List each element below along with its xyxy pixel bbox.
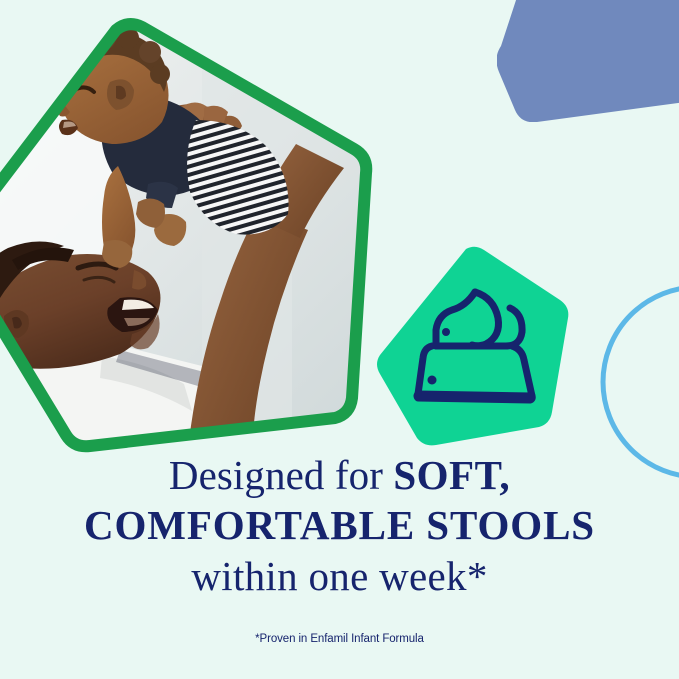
- light-blue-circle-icon: [598, 282, 679, 482]
- headline-emphasis-soft: SOFT,: [393, 452, 510, 498]
- rounded-blue-polygon-icon: [497, 0, 679, 122]
- headline-line-1: Designed for SOFT,: [0, 455, 679, 496]
- promo-banner: Designed for SOFT, COMFORTABLE STOOLS wi…: [0, 0, 679, 679]
- soft-stool-badge: [374, 246, 576, 448]
- headline-line-2: COMFORTABLE STOOLS: [0, 505, 679, 546]
- lifestyle-photo-hexagon: [0, 16, 372, 448]
- footnote-text: *Proven in Enfamil Infant Formula: [0, 633, 679, 645]
- headline-lead-text: Designed for: [169, 452, 393, 498]
- headline-block: Designed for SOFT, COMFORTABLE STOOLS wi…: [0, 455, 679, 597]
- headline-line-3: within one week*: [0, 556, 679, 597]
